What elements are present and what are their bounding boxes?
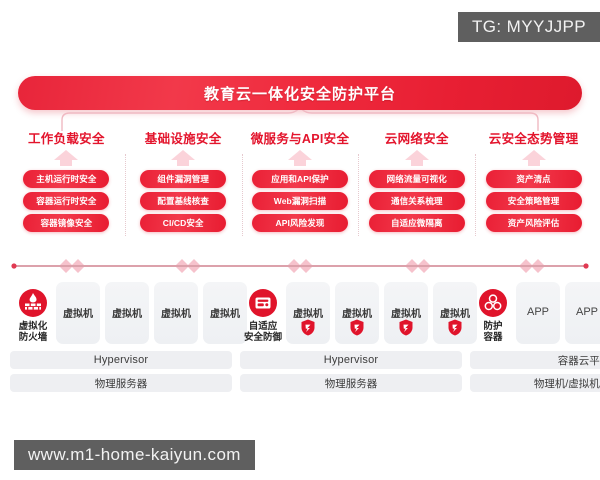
guard-label: 防护 容器 — [483, 321, 502, 343]
pill-label: 容器镜像安全 — [41, 217, 93, 229]
node-vm-protected[interactable]: 虚拟机 — [286, 282, 330, 344]
hardware-bar: 物理机/虚拟机/云主机 — [470, 374, 600, 392]
capability-column-workload: 工作负载安全 主机运行时安全 容器运行时安全 容器镜像安全 — [8, 128, 125, 250]
up-arrow-icon — [170, 150, 196, 166]
site-watermark: www.m1-home-kaiyun.com — [14, 440, 255, 470]
platform-bar: Hypervisor — [240, 351, 462, 369]
node-vm-protected[interactable]: 虚拟机 — [384, 282, 428, 344]
pill-label: 配置基线核查 — [157, 195, 209, 207]
platform-bar-label: 容器云平台 — [558, 353, 600, 368]
capability-column-microservice-api: 微服务与API安全 应用和API保护 Web漏洞扫描 API风险发现 — [242, 128, 359, 250]
node-vm[interactable]: 虚拟机 — [56, 282, 100, 344]
node-vm[interactable]: 虚拟机 — [154, 282, 198, 344]
hardware-bar-label: 物理服务器 — [325, 376, 378, 391]
infra-group-adaptive-defense: 自适应 安全防御 虚拟机 虚拟机 — [240, 280, 462, 392]
up-arrow-icon — [521, 150, 547, 166]
hardware-bar-label: 物理服务器 — [95, 376, 148, 391]
capability-pill[interactable]: CI/CD安全 — [140, 214, 226, 232]
capability-pill[interactable]: API风险发现 — [252, 214, 348, 232]
node-list: 虚拟机 虚拟机 虚拟机 — [286, 280, 477, 344]
up-arrow-icon — [404, 150, 430, 166]
shield-badge-icon — [350, 319, 365, 336]
platform-bar-label: Hypervisor — [94, 354, 149, 366]
platform-bar: Hypervisor — [10, 351, 232, 369]
hardware-bar: 物理服务器 — [240, 374, 462, 392]
banner-title: 教育云一体化安全防护平台 — [204, 83, 396, 104]
node-list: 虚拟机 虚拟机 虚拟机 虚拟机 — [56, 280, 247, 344]
pill-label: CI/CD安全 — [163, 217, 204, 229]
shield-badge-icon — [301, 319, 316, 336]
pill-label: 组件漏洞管理 — [157, 173, 209, 185]
infrastructure-row: 虚拟化 防火墙 虚拟机 虚拟机 虚拟机 虚拟机 Hypervisor 物理服务器 — [10, 280, 590, 392]
pill-label: API风险发现 — [276, 217, 325, 229]
pill-label: 自适应微隔离 — [391, 217, 443, 229]
guard-container-protection: 防护 容器 — [470, 280, 516, 343]
adaptive-defense-icon — [248, 288, 278, 318]
diagram-canvas: 教育云一体化安全防护平台 工作负载安全 主机运行时安全 容器运行时安全 容器镜像… — [0, 0, 600, 480]
pill-label: Web漏洞扫描 — [274, 195, 327, 207]
container-cluster-icon — [478, 288, 508, 318]
platform-bar-label: Hypervisor — [324, 354, 379, 366]
platform-bar: 容器云平台 — [470, 351, 600, 369]
column-title: 云网络安全 — [385, 128, 449, 147]
up-arrow-icon — [287, 150, 313, 166]
infra-group-virtualization: 虚拟化 防火墙 虚拟机 虚拟机 虚拟机 虚拟机 Hypervisor 物理服务器 — [10, 280, 232, 392]
column-title: 工作负载安全 — [28, 128, 105, 147]
infra-group-container: 防护 容器 APP APP APP APP 容器云平台 物理机/虚拟机/云主机 — [470, 280, 600, 392]
guard-label: 自适应 安全防御 — [244, 321, 282, 343]
capability-pill[interactable]: 容器运行时安全 — [23, 192, 109, 210]
hardware-bar: 物理服务器 — [10, 374, 232, 392]
node-label: 虚拟机 — [56, 305, 100, 320]
node-vm-protected[interactable]: 虚拟机 — [335, 282, 379, 344]
guard-virtualization-firewall: 虚拟化 防火墙 — [10, 280, 56, 343]
node-app[interactable]: APP — [516, 282, 560, 344]
column-title: 基础设施安全 — [145, 128, 222, 147]
capability-pill[interactable]: 配置基线核查 — [140, 192, 226, 210]
node-label: 虚拟机 — [384, 305, 428, 320]
telegram-watermark: TG: MYYJJPP — [458, 12, 600, 42]
capability-pill[interactable]: 组件漏洞管理 — [140, 170, 226, 188]
capability-pill[interactable]: 应用和API保护 — [252, 170, 348, 188]
node-label: 虚拟机 — [154, 305, 198, 320]
capability-column-infrastructure: 基础设施安全 组件漏洞管理 配置基线核查 CI/CD安全 — [125, 128, 242, 250]
node-vm[interactable]: 虚拟机 — [105, 282, 149, 344]
node-label: APP — [565, 306, 600, 318]
capability-pill[interactable]: 通信关系梳理 — [369, 192, 465, 210]
capability-pill[interactable]: 主机运行时安全 — [23, 170, 109, 188]
infra-group-top: 虚拟化 防火墙 虚拟机 虚拟机 虚拟机 虚拟机 — [10, 280, 232, 346]
node-label: 虚拟机 — [286, 305, 330, 320]
node-list: APP APP APP APP — [516, 280, 600, 344]
capability-pill[interactable]: 容器镜像安全 — [23, 214, 109, 232]
guard-adaptive-defense: 自适应 安全防御 — [240, 280, 286, 343]
node-label: 虚拟机 — [105, 305, 149, 320]
infra-group-top: 自适应 安全防御 虚拟机 虚拟机 — [240, 280, 462, 346]
shield-badge-icon — [399, 319, 414, 336]
capability-pill[interactable]: 安全策略管理 — [486, 192, 582, 210]
pill-label: 应用和API保护 — [271, 173, 328, 185]
capability-column-cloud-network: 云网络安全 网络流量可视化 通信关系梳理 自适应微隔离 — [358, 128, 475, 250]
connector-rail — [8, 256, 592, 276]
platform-banner: 教育云一体化安全防护平台 — [18, 76, 582, 110]
node-label: APP — [516, 306, 560, 318]
guard-label: 虚拟化 防火墙 — [19, 321, 48, 343]
pill-label: 主机运行时安全 — [36, 173, 96, 185]
up-arrow-icon — [53, 150, 79, 166]
pill-label: 网络流量可视化 — [387, 173, 447, 185]
shield-badge-icon — [448, 319, 463, 336]
column-title: 微服务与API安全 — [251, 128, 350, 147]
capability-pill[interactable]: Web漏洞扫描 — [252, 192, 348, 210]
pill-label: 安全策略管理 — [508, 195, 560, 207]
firewall-icon — [18, 288, 48, 318]
capability-pill[interactable]: 网络流量可视化 — [369, 170, 465, 188]
hardware-bar-label: 物理机/虚拟机/云主机 — [534, 376, 600, 391]
node-label: 虚拟机 — [335, 305, 379, 320]
pill-label: 资产风险评估 — [508, 217, 560, 229]
pill-label: 资产清点 — [516, 173, 550, 185]
capability-column-cspm: 云安全态势管理 资产清点 安全策略管理 资产风险评估 — [475, 128, 592, 250]
capability-pill[interactable]: 资产风险评估 — [486, 214, 582, 232]
column-title: 云安全态势管理 — [489, 128, 579, 147]
pill-label: 通信关系梳理 — [391, 195, 443, 207]
node-app[interactable]: APP — [565, 282, 600, 344]
pill-label: 容器运行时安全 — [36, 195, 96, 207]
capability-pill[interactable]: 资产清点 — [486, 170, 582, 188]
capability-columns: 工作负载安全 主机运行时安全 容器运行时安全 容器镜像安全 基础设施安全 组件漏… — [8, 128, 592, 250]
capability-pill[interactable]: 自适应微隔离 — [369, 214, 465, 232]
infra-group-top: 防护 容器 APP APP APP APP — [470, 280, 600, 346]
